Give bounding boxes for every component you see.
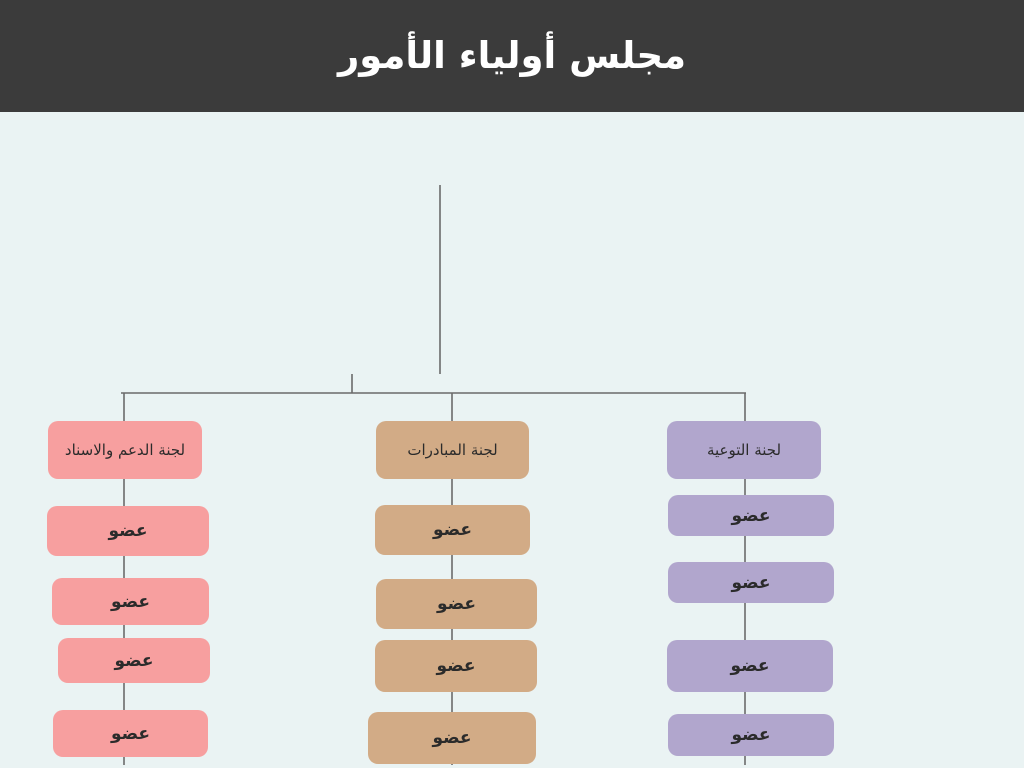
member-label: عضو [103,724,158,744]
member-label: عضو [103,592,158,612]
committee-label: لجنة المبادرات [399,441,505,459]
committee-box[interactable]: لجنة المبادرات [376,421,529,479]
member-label: عضو [429,594,484,614]
member-label: عضو [424,728,479,748]
member-box[interactable]: عضو [668,714,834,756]
member-box[interactable]: عضو [668,562,834,603]
member-box[interactable]: عضو [53,710,208,757]
member-label: عضو [722,656,777,676]
member-label: عضو [106,651,161,671]
member-box[interactable]: عضو [58,638,210,683]
member-label: عضو [425,520,480,540]
committee-label: لجنة التوعية [699,441,789,459]
member-box[interactable]: عضو [52,578,209,625]
member-box[interactable]: عضو [376,579,537,629]
member-box[interactable]: عضو [668,495,834,536]
org-chart-canvas: مجلس أولياء الأمور رئيسالنائبأمين السر ل… [0,0,1024,768]
member-box[interactable]: عضو [375,640,537,692]
committee-box[interactable]: لجنة الدعم والاسناد [48,421,202,479]
committee-box[interactable]: لجنة التوعية [667,421,821,479]
member-label: عضو [100,521,155,541]
member-box[interactable]: عضو [375,505,530,555]
member-label: عضو [723,725,778,745]
member-label: عضو [723,506,778,526]
member-label: عضو [428,656,483,676]
committee-label: لجنة الدعم والاسناد [57,441,193,459]
member-label: عضو [723,573,778,593]
member-box[interactable]: عضو [368,712,536,764]
member-box[interactable]: عضو [667,640,833,692]
page-title: مجلس أولياء الأمور [338,36,686,77]
page-header: مجلس أولياء الأمور [0,0,1024,112]
member-box[interactable]: عضو [47,506,209,556]
